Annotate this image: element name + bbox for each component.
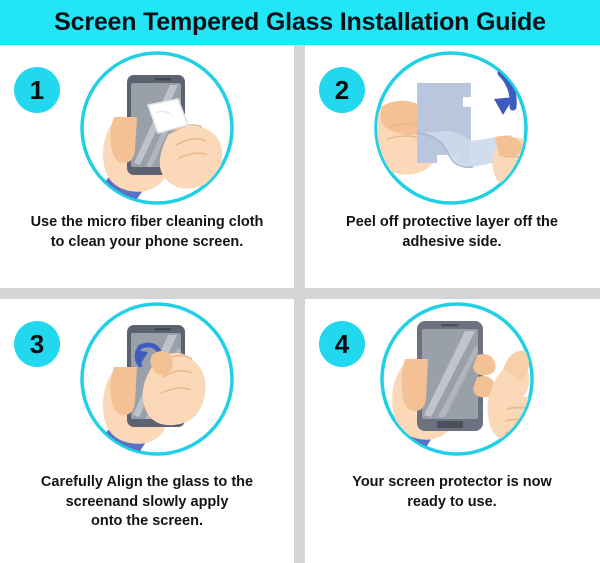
page-title: Screen Tempered Glass Installation Guide — [54, 8, 546, 37]
step-caption-4: Your screen protector is now ready to us… — [305, 473, 599, 512]
left-thumb — [401, 359, 428, 411]
step-panel-2: 2 Peel off protective layer off the adhe… — [305, 45, 599, 288]
step-badge-1: 1 — [14, 67, 60, 113]
left-thumb — [110, 367, 137, 415]
step-number-2: 2 — [335, 77, 349, 103]
caption-line: adhesive side. — [321, 233, 583, 253]
caption-line: onto the screen. — [16, 512, 278, 532]
caption-line: Carefully Align the glass to the — [16, 473, 278, 493]
step-panel-1: 1 Use the micro fiber cleaning cloth to … — [0, 45, 294, 288]
caption-line: screenand slowly apply — [16, 493, 278, 513]
step-number-1: 1 — [30, 77, 44, 103]
header-banner: Screen Tempered Glass Installation Guide — [0, 0, 600, 45]
phone-speaker — [441, 324, 459, 326]
phone-speaker — [155, 78, 171, 80]
step-number-4: 4 — [335, 331, 349, 357]
caption-line: Your screen protector is now — [321, 473, 583, 493]
phone-home-button — [437, 421, 463, 428]
step-badge-2: 2 — [319, 67, 365, 113]
installation-guide-page: Screen Tempered Glass Installation Guide — [0, 0, 600, 563]
caption-line: Use the micro fiber cleaning cloth — [16, 213, 278, 233]
step-badge-4: 4 — [319, 321, 365, 367]
left-thumb — [110, 117, 137, 163]
step-panel-4: 4 Your screen protector is now ready to … — [305, 299, 599, 563]
caption-line: Peel off protective layer off the — [321, 213, 583, 233]
caption-line: ready to use. — [321, 493, 583, 513]
caption-line: to clean your phone screen. — [16, 233, 278, 253]
step-caption-3: Carefully Align the glass to the screena… — [0, 473, 294, 532]
step-badge-3: 3 — [14, 321, 60, 367]
steps-grid: 1 Use the micro fiber cleaning cloth to … — [0, 45, 600, 563]
step-number-3: 3 — [30, 331, 44, 357]
phone-speaker — [155, 328, 171, 330]
step-caption-2: Peel off protective layer off the adhesi… — [305, 213, 599, 252]
step-panel-3: 3 Carefully Align the glass to the scree… — [0, 299, 294, 563]
step-caption-1: Use the micro fiber cleaning cloth to cl… — [0, 213, 294, 252]
